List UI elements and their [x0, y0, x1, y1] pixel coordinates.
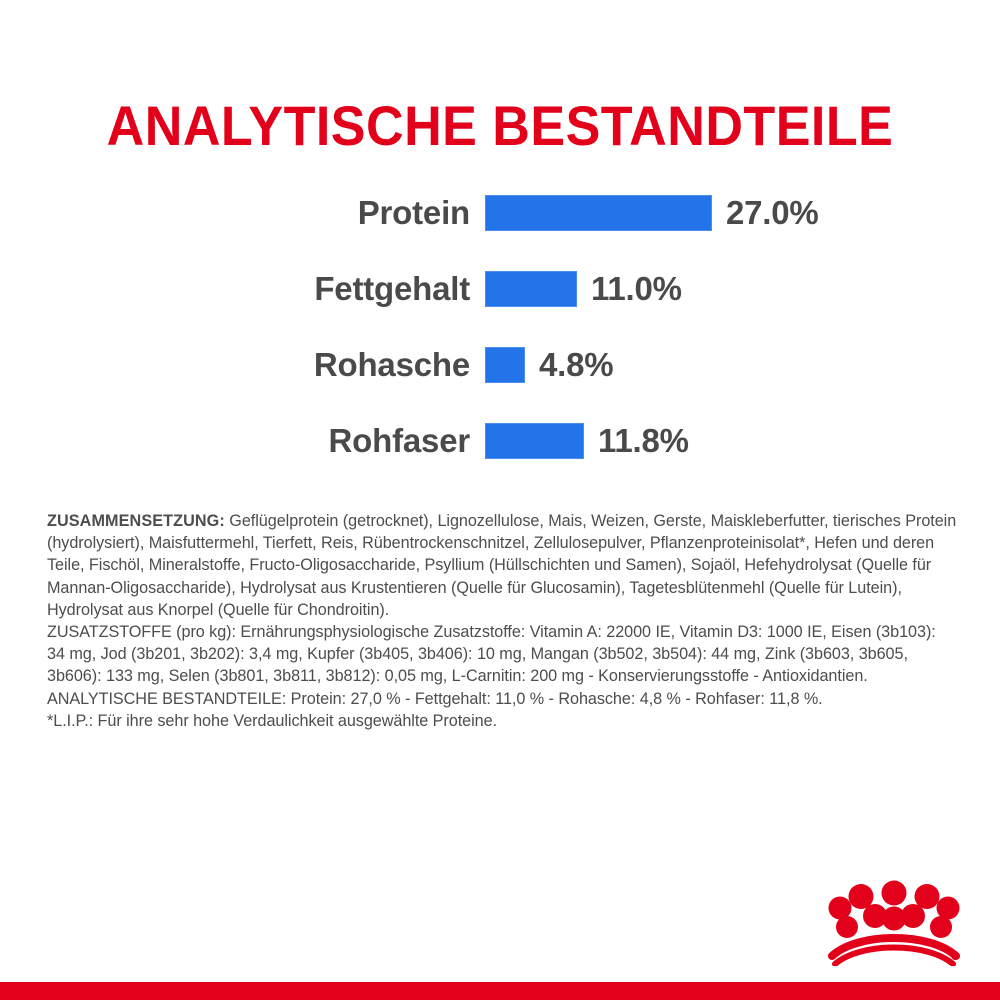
bar-track-fettgehalt: 11.0%	[485, 271, 1000, 307]
analytical-constituents-paragraph: ANALYTISCHE BESTANDTEILE: Protein: 27,0 …	[47, 688, 957, 710]
bar-value-rohfaser: 11.8%	[598, 423, 689, 459]
bar-track-rohasche: 4.8%	[485, 347, 1000, 383]
registered-trademark-mark: ®	[951, 953, 958, 962]
bar-label-rohasche: Rohasche	[0, 347, 485, 383]
additives-paragraph: ZUSATZSTOFFE (pro kg): Ernährungsphysiol…	[47, 621, 957, 688]
bar-row-rohasche: Rohasche 4.8%	[0, 327, 1000, 403]
page-root: ANALYTISCHE BESTANDTEILE Protein 27.0% F…	[0, 0, 1000, 1000]
royal-canin-crown-logo: ®	[828, 880, 960, 966]
crown-icon	[828, 880, 960, 966]
bar-track-rohfaser: 11.8%	[485, 423, 1000, 459]
page-title: ANALYTISCHE BESTANDTEILE	[35, 95, 965, 157]
bottom-accent-bar	[0, 982, 1000, 1000]
composition-paragraph: ZUSAMMENSETZUNG: Geflügelprotein (getroc…	[47, 510, 957, 621]
lip-footnote: *L.I.P.: Für ihre sehr hohe Verdaulichke…	[47, 710, 957, 732]
bar-row-protein: Protein 27.0%	[0, 175, 1000, 251]
bar-value-protein: 27.0%	[726, 195, 819, 231]
bar-value-rohasche: 4.8%	[539, 347, 613, 383]
bar-row-rohfaser: Rohfaser 11.8%	[0, 403, 1000, 479]
composition-lead-label: ZUSAMMENSETZUNG:	[47, 512, 225, 530]
bar-label-protein: Protein	[0, 195, 485, 231]
bar-label-fettgehalt: Fettgehalt	[0, 271, 485, 307]
bar-row-fettgehalt: Fettgehalt 11.0%	[0, 251, 1000, 327]
bar-fill-rohfaser	[485, 423, 584, 459]
ingredients-text-block: ZUSAMMENSETZUNG: Geflügelprotein (getroc…	[47, 510, 957, 732]
bar-label-rohfaser: Rohfaser	[0, 423, 485, 459]
bar-value-fettgehalt: 11.0%	[591, 271, 682, 307]
bar-track-protein: 27.0%	[485, 195, 1000, 231]
bar-fill-rohasche	[485, 347, 525, 383]
bar-fill-fettgehalt	[485, 271, 577, 307]
analytical-constituents-chart: Protein 27.0% Fettgehalt 11.0% Rohasche …	[0, 175, 1000, 479]
bar-fill-protein	[485, 195, 712, 231]
